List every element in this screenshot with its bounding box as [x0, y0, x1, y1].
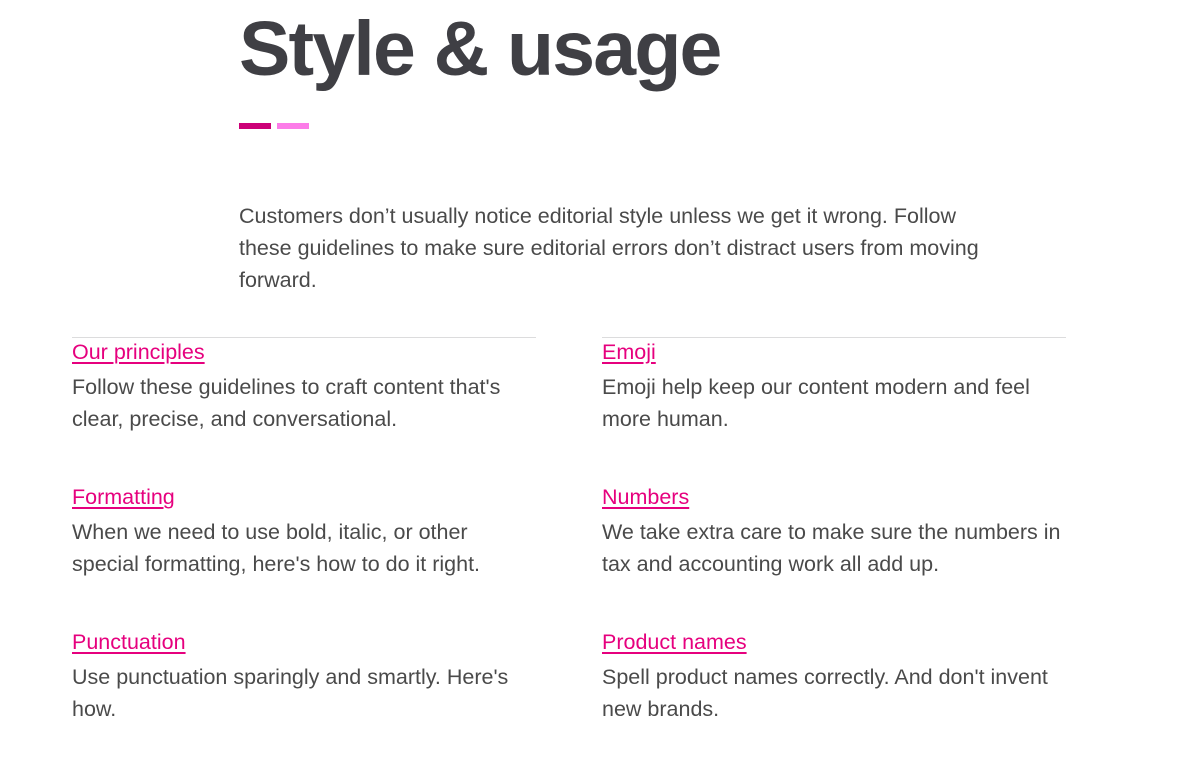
section-link-formatting[interactable]: Formatting — [72, 483, 175, 511]
section-link-product-names[interactable]: Product names — [602, 628, 747, 656]
entry-spacer — [602, 580, 1066, 628]
section-entry: Our principles Follow these guidelines t… — [72, 338, 536, 435]
entry-spacer — [72, 580, 536, 628]
column-right: Emoji Emoji help keep our content modern… — [602, 337, 1066, 725]
accent-rule-light — [277, 123, 309, 129]
section-entry: Formatting When we need to use bold, ita… — [72, 483, 536, 580]
section-link-emoji[interactable]: Emoji — [602, 338, 656, 366]
section-link-our-principles[interactable]: Our principles — [72, 338, 205, 366]
intro-paragraph: Customers don’t usually notice editorial… — [239, 200, 984, 296]
section-entry: Numbers We take extra care to make sure … — [602, 483, 1066, 580]
section-description: Emoji help keep our content modern and f… — [602, 371, 1066, 435]
section-entry: Emoji Emoji help keep our content modern… — [602, 338, 1066, 435]
section-link-grid: Our principles Follow these guidelines t… — [72, 337, 1066, 725]
accent-rule-group — [239, 123, 1069, 129]
hero-section: Style & usage — [239, 0, 1069, 129]
section-link-numbers[interactable]: Numbers — [602, 483, 689, 511]
section-description: Follow these guidelines to craft content… — [72, 371, 536, 435]
accent-rule-dark — [239, 123, 271, 129]
section-link-punctuation[interactable]: Punctuation — [72, 628, 186, 656]
section-description: Spell product names correctly. And don't… — [602, 661, 1066, 725]
section-description: We take extra care to make sure the numb… — [602, 516, 1066, 580]
entry-spacer — [72, 435, 536, 483]
section-entry: Product names Spell product names correc… — [602, 628, 1066, 725]
section-entry: Punctuation Use punctuation sparingly an… — [72, 628, 536, 725]
section-description: Use punctuation sparingly and smartly. H… — [72, 661, 536, 725]
page-title: Style & usage — [239, 0, 1069, 98]
section-description: When we need to use bold, italic, or oth… — [72, 516, 536, 580]
column-left: Our principles Follow these guidelines t… — [72, 337, 536, 725]
style-usage-page: Style & usage Customers don’t usually no… — [0, 0, 1200, 771]
entry-spacer — [602, 435, 1066, 483]
